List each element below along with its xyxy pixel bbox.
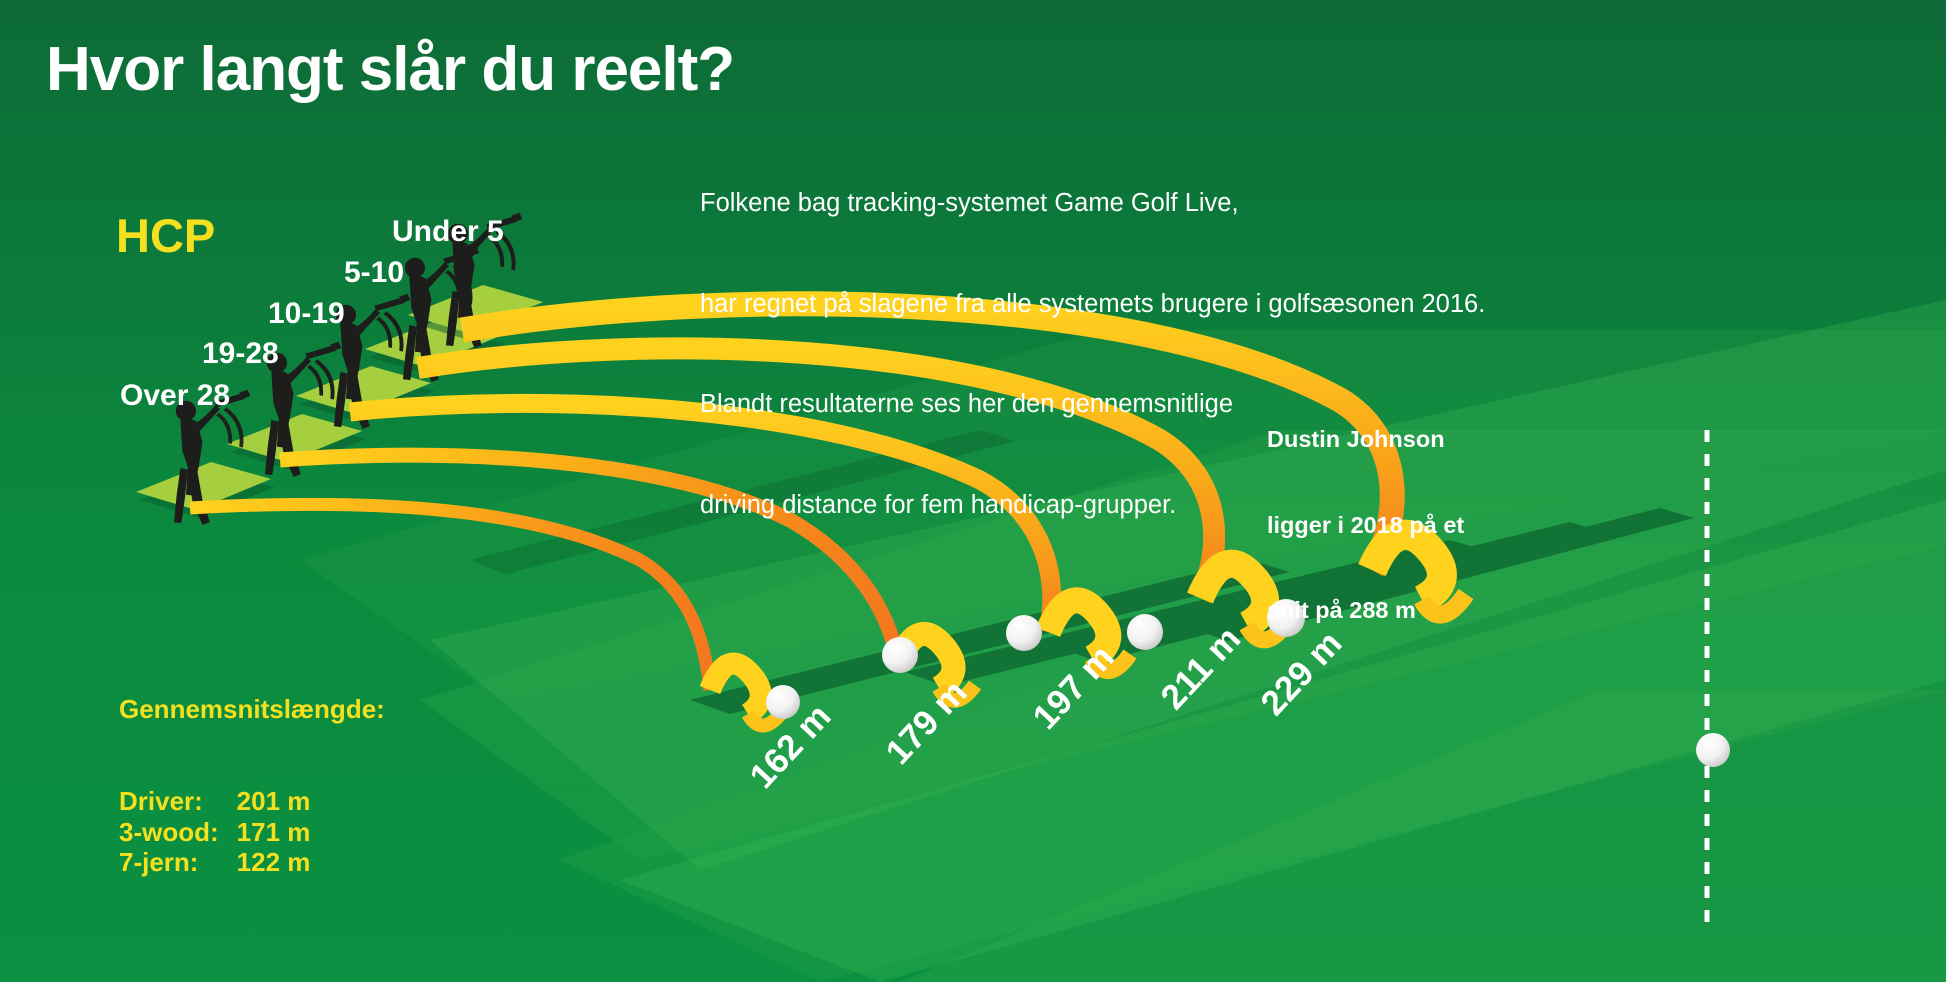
dj-line-1: Dustin Johnson (1267, 425, 1464, 454)
hcp-label-10-19: 10-19 (268, 297, 345, 331)
average-length-legend: Gennemsnitslængde: Driver: 201 m 3-wood:… (119, 633, 385, 939)
dj-line-3: snit på 288 m (1267, 596, 1464, 625)
legend-value-7jern: 122 m (219, 847, 311, 878)
legend-value-3wood: 171 m (219, 817, 311, 848)
intro-line-1: Folkene bag tracking-systemet Game Golf … (700, 187, 1485, 221)
dj-golf-ball (1696, 733, 1730, 767)
intro-line-2: har regnet på slagene fra alle systemets… (700, 288, 1485, 322)
dj-line-2: ligger i 2018 på et (1267, 511, 1464, 540)
golf-ball (1006, 615, 1042, 651)
legend-label-3wood: 3-wood: (119, 817, 219, 848)
legend-value-driver: 201 m (219, 786, 311, 817)
infographic-canvas: Hvor langt slår du reelt? Folkene bag tr… (0, 0, 1946, 982)
legend-heading: Gennemsnitslængde: (119, 694, 385, 725)
dustin-johnson-reference (1696, 430, 1730, 930)
page-title: Hvor langt slår du reelt? (46, 34, 734, 105)
hcp-label-19-28: 19-28 (202, 337, 279, 371)
legend-row-driver: Driver: 201 m (119, 786, 310, 817)
legend-label-driver: Driver: (119, 786, 219, 817)
legend-row-3wood: 3-wood: 171 m (119, 817, 310, 848)
hcp-label-5-10: 5-10 (344, 256, 404, 290)
dustin-johnson-annotation: Dustin Johnson ligger i 2018 på et snit … (1267, 368, 1464, 682)
golf-ball (882, 637, 918, 673)
hcp-heading: HCP (116, 208, 215, 263)
hcp-label-over-28: Over 28 (120, 379, 230, 413)
golf-ball (1127, 614, 1163, 650)
legend-label-7jern: 7-jern: (119, 847, 219, 878)
legend-row-7jern: 7-jern: 122 m (119, 847, 310, 878)
legend-table: Driver: 201 m 3-wood: 171 m 7-jern: 122 … (119, 786, 310, 878)
hcp-label-under-5: Under 5 (392, 215, 504, 249)
